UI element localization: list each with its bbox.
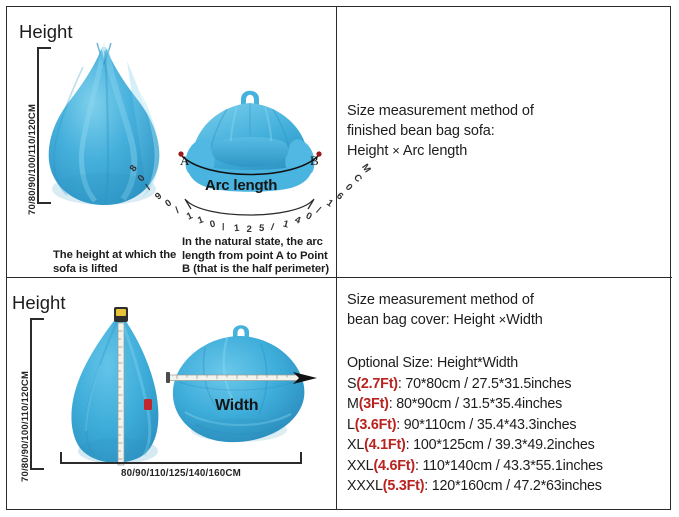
size-code: XL <box>347 437 364 453</box>
size-row: XXL(4.6Ft): 110*140cm / 43.3*55.1inches <box>347 456 669 477</box>
size-code: XXL <box>347 458 373 474</box>
size-dimensions: : 90*110cm / 35.4*43.3inches <box>396 417 576 433</box>
size-feet: (4.6Ft) <box>373 458 415 474</box>
beanbag-cover-upright-image <box>60 305 170 470</box>
cell-top-right: Size measurement method of finished bean… <box>337 7 671 277</box>
size-row: L(3.6Ft): 90*110cm / 35.4*43.3inches <box>347 415 669 436</box>
size-feet: (2.7Ft) <box>356 376 398 392</box>
finished-sofa-line3-pre: Height <box>347 143 392 159</box>
size-feet: (3.6Ft) <box>355 417 397 433</box>
size-feet: (5.3Ft) <box>383 478 425 494</box>
size-feet: (4.1Ft) <box>364 437 406 453</box>
width-bracket <box>60 452 302 464</box>
cover-method-line1: Size measurement method of <box>347 290 667 310</box>
height-scale-bottom: 70/80/90/100/110/120CM <box>20 371 31 482</box>
cover-method-line2: bean bag cover: Height ×Width <box>347 310 667 330</box>
optional-size-list: Optional Size: Height*Width S(2.7Ft): 70… <box>347 353 669 497</box>
size-code: XXXL <box>347 478 383 494</box>
finished-sofa-line2: finished bean bag sofa: <box>347 121 663 141</box>
width-label: Width <box>215 397 258 415</box>
caption-height-lifted: The height at which the sofa is lifted <box>53 249 183 276</box>
finished-sofa-line1: Size measurement method of <box>347 101 663 121</box>
size-dimensions: : 100*125cm / 39.3*49.2inches <box>406 437 595 453</box>
arc-scale-group: 80/90/110/125/140/160CM <box>182 198 317 226</box>
finished-sofa-method-text: Size measurement method of finished bean… <box>347 101 663 161</box>
size-dimensions: : 70*80cm / 27.5*31.5inches <box>398 376 571 392</box>
size-code: L <box>347 417 355 433</box>
size-row: M(3Ft): 80*90cm / 31.5*35.4inches <box>347 394 669 415</box>
size-guide-page: Height 70/80/90/100/110/120CM <box>0 0 679 517</box>
size-row: XL(4.1Ft): 100*125cm / 39.3*49.2inches <box>347 435 669 456</box>
arc-scale-char: 5 <box>258 223 264 234</box>
height-bracket-bottom <box>30 318 44 470</box>
caption-arc-length: In the natural state, the arc length fro… <box>182 236 334 277</box>
cover-method-line2-post: Width <box>506 312 543 328</box>
beanbag-teardrop-image <box>37 37 172 209</box>
size-dimensions: : 120*160cm / 47.2*63inches <box>424 478 601 494</box>
size-dimensions: : 80*90cm / 31.5*35.4inches <box>389 396 562 412</box>
size-feet: (3Ft) <box>359 396 389 412</box>
beanbag-cover-round-image <box>165 322 320 452</box>
arc-scale-char: 2 <box>247 224 252 235</box>
cell-bottom-right: Size measurement method of bean bag cove… <box>337 278 671 509</box>
finished-sofa-line3: Height × Arc length <box>347 141 663 161</box>
arc-length-label: Arc length <box>205 177 277 194</box>
size-code: S <box>347 376 356 392</box>
size-rows: S(2.7Ft): 70*80cm / 27.5*31.5inchesM(3Ft… <box>347 374 669 497</box>
multiply-symbol-top: × <box>392 143 400 158</box>
size-dimensions: : 110*140cm / 43.3*55.1inches <box>415 458 603 474</box>
width-scale: 80/90/110/125/140/160CM <box>60 468 302 479</box>
height-label-bottom: Height <box>12 292 65 314</box>
arc-scale-char: 1 <box>234 223 240 234</box>
finished-sofa-line3-post: Arc length <box>400 143 467 159</box>
size-row: XXXL(5.3Ft): 120*160cm / 47.2*63inches <box>347 476 669 497</box>
point-a-label: A <box>180 153 189 169</box>
size-row: S(2.7Ft): 70*80cm / 27.5*31.5inches <box>347 374 669 395</box>
optional-size-title: Optional Size: Height*Width <box>347 353 669 374</box>
cover-method-text: Size measurement method of bean bag cove… <box>347 290 667 330</box>
point-b-label: B <box>310 153 319 169</box>
cover-method-line2-pre: bean bag cover: Height <box>347 312 499 328</box>
size-code: M <box>347 396 359 412</box>
